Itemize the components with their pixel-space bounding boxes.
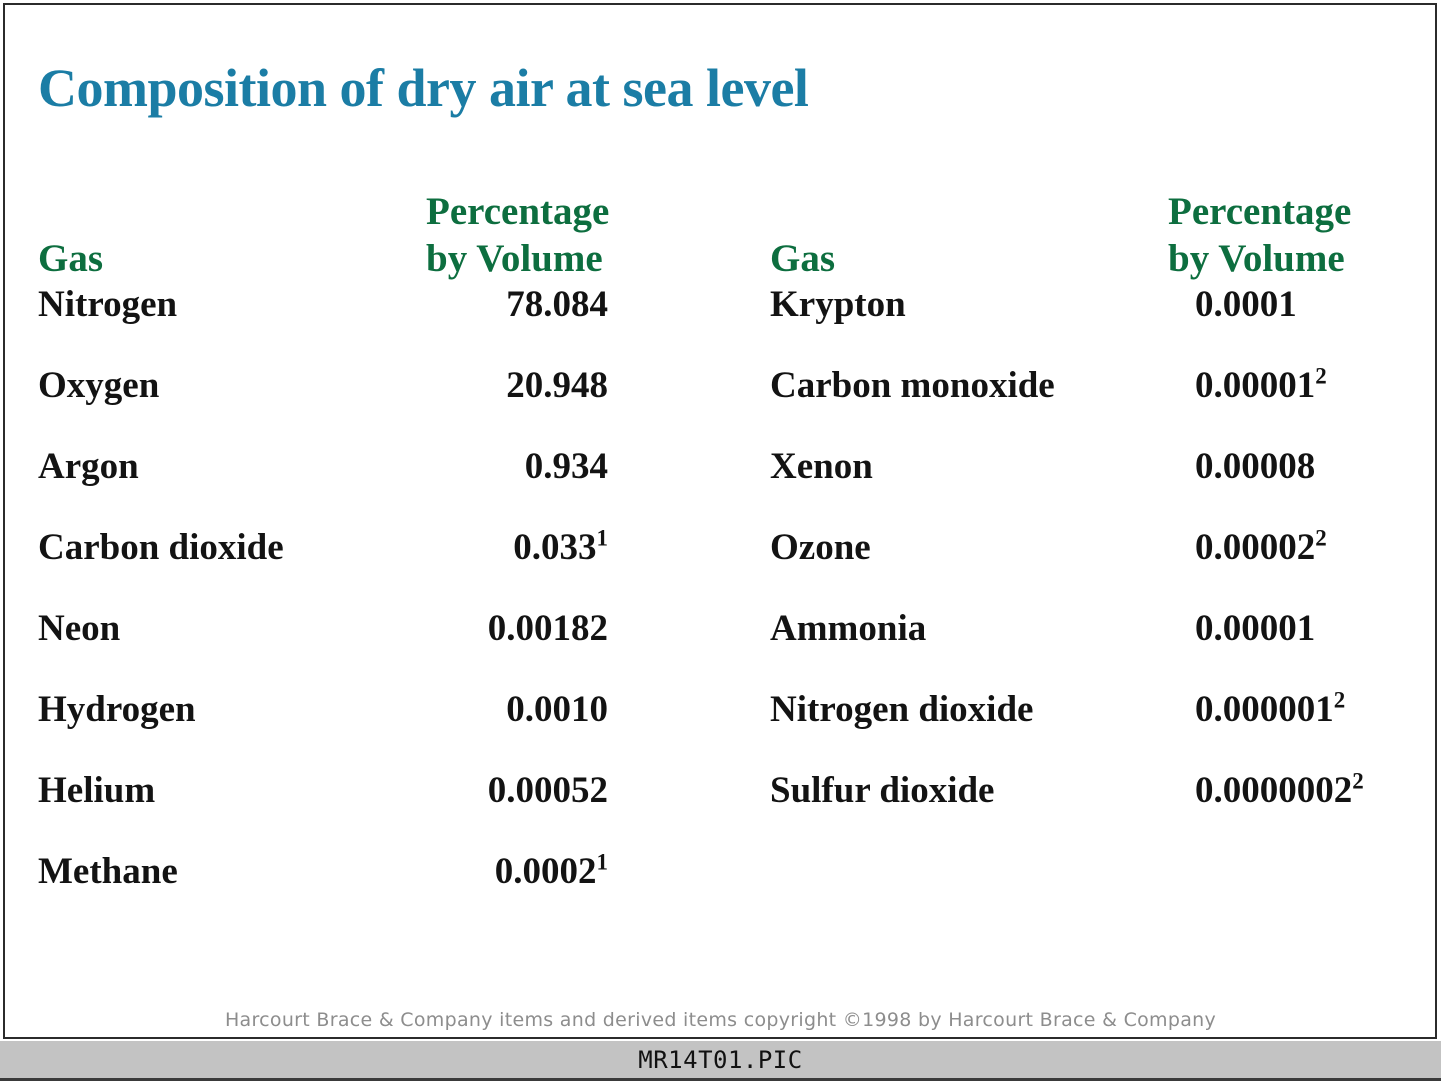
table-row: Argon0.934	[38, 444, 658, 525]
table-rows-right: Krypton0.0001Carbon monoxide0.000012Xeno…	[770, 282, 1395, 849]
gas-percentage-value: 0.934	[418, 444, 608, 490]
column-header-percentage-right: Percentage by Volume	[1168, 188, 1351, 282]
gas-percentage-number: 0.033	[513, 527, 596, 568]
gas-percentage-number: 0.00182	[488, 608, 608, 649]
gas-percentage-value: 20.948	[418, 363, 608, 409]
column-header-gas-left: Gas	[38, 235, 103, 282]
gas-name: Carbon monoxide	[770, 363, 1055, 409]
footnote-marker: 1	[597, 850, 608, 875]
gas-percentage-number: 0.00001	[1195, 365, 1315, 406]
table-row: Sulfur dioxide0.00000022	[770, 768, 1395, 849]
column-header-gas-right: Gas	[770, 235, 835, 282]
table-row: Helium0.00052	[38, 768, 658, 849]
gas-percentage-value: 0.00008	[1195, 444, 1395, 490]
table-row: Nitrogen dioxide0.0000012	[770, 687, 1395, 768]
gas-percentage-value: 0.0010	[418, 687, 608, 733]
gas-percentage-number: 0.0002	[495, 851, 597, 892]
slide-root: Composition of dry air at sea level Gas …	[0, 0, 1441, 1081]
table-row: Ozone0.000022	[770, 525, 1395, 606]
gas-percentage-number: 0.0010	[506, 689, 608, 730]
gas-name: Neon	[38, 606, 120, 652]
gas-percentage-value: 0.000022	[1195, 525, 1395, 571]
footnote-marker: 2	[1315, 364, 1326, 389]
gas-name: Oxygen	[38, 363, 159, 409]
gas-percentage-value: 0.00001	[1195, 606, 1395, 652]
gas-name: Helium	[38, 768, 155, 814]
gas-name: Sulfur dioxide	[770, 768, 994, 814]
gas-percentage-value: 0.0001	[1195, 282, 1395, 328]
gas-percentage-number: 0.934	[525, 446, 608, 487]
status-bar: MR14T01.PIC	[0, 1041, 1441, 1081]
table-block-right: Gas Percentage by Volume Krypton0.0001Ca…	[770, 172, 1395, 849]
column-header-percentage-left: Percentage by Volume	[426, 188, 609, 282]
gas-percentage-value: 0.00021	[418, 849, 608, 895]
table-rows-left: Nitrogen78.084Oxygen20.948Argon0.934Carb…	[38, 282, 658, 930]
gas-percentage-number: 0.000001	[1195, 689, 1334, 730]
table-block-left: Gas Percentage by Volume Nitrogen78.084O…	[38, 172, 658, 930]
gas-name: Xenon	[770, 444, 873, 490]
table-row: Carbon monoxide0.000012	[770, 363, 1395, 444]
composition-table: Gas Percentage by Volume Nitrogen78.084O…	[0, 172, 1434, 972]
gas-name: Ammonia	[770, 606, 926, 652]
gas-percentage-number: 0.0001	[1195, 284, 1297, 325]
column-header-percentage-line2: by Volume	[426, 235, 609, 282]
column-header-percentage-line2: by Volume	[1168, 235, 1351, 282]
table-row: Ammonia0.00001	[770, 606, 1395, 687]
gas-name: Nitrogen dioxide	[770, 687, 1033, 733]
gas-percentage-number: 0.00002	[1195, 527, 1315, 568]
column-header-percentage-line1: Percentage	[426, 188, 609, 235]
gas-percentage-number: 0.00008	[1195, 446, 1315, 487]
gas-percentage-value: 0.00182	[418, 606, 608, 652]
gas-percentage-value: 0.00000022	[1195, 768, 1395, 814]
gas-name: Carbon dioxide	[38, 525, 284, 571]
gas-percentage-value: 0.0331	[418, 525, 608, 571]
table-row: Oxygen20.948	[38, 363, 658, 444]
gas-percentage-value: 78.084	[418, 282, 608, 328]
table-row: Methane0.00021	[38, 849, 658, 930]
gas-percentage-value: 0.00052	[418, 768, 608, 814]
gas-name: Methane	[38, 849, 178, 895]
table-row: Xenon0.00008	[770, 444, 1395, 525]
gas-percentage-number: 20.948	[506, 365, 608, 406]
gas-percentage-number: 0.0000002	[1195, 770, 1352, 811]
gas-percentage-value: 0.0000012	[1195, 687, 1395, 733]
gas-percentage-number: 0.00052	[488, 770, 608, 811]
gas-name: Argon	[38, 444, 139, 490]
gas-name: Krypton	[770, 282, 906, 328]
gas-percentage-number: 78.084	[506, 284, 608, 325]
table-header-row-right: Gas Percentage by Volume	[770, 172, 1395, 282]
table-row: Hydrogen0.0010	[38, 687, 658, 768]
footnote-marker: 2	[1352, 769, 1363, 794]
gas-percentage-value: 0.000012	[1195, 363, 1395, 409]
gas-name: Nitrogen	[38, 282, 177, 328]
status-bar-filename: MR14T01.PIC	[0, 1046, 1441, 1074]
copyright-credit: Harcourt Brace & Company items and deriv…	[0, 1008, 1441, 1032]
gas-name: Ozone	[770, 525, 871, 571]
footnote-marker: 1	[597, 526, 608, 551]
table-row: Carbon dioxide0.0331	[38, 525, 658, 606]
page-title: Composition of dry air at sea level	[38, 57, 808, 119]
gas-name: Hydrogen	[38, 687, 196, 733]
footnote-marker: 2	[1334, 688, 1345, 713]
table-header-row-left: Gas Percentage by Volume	[38, 172, 658, 282]
gas-percentage-number: 0.00001	[1195, 608, 1315, 649]
column-header-percentage-line1: Percentage	[1168, 188, 1351, 235]
table-row: Nitrogen78.084	[38, 282, 658, 363]
footnote-marker: 2	[1315, 526, 1326, 551]
table-row: Neon0.00182	[38, 606, 658, 687]
table-row: Krypton0.0001	[770, 282, 1395, 363]
